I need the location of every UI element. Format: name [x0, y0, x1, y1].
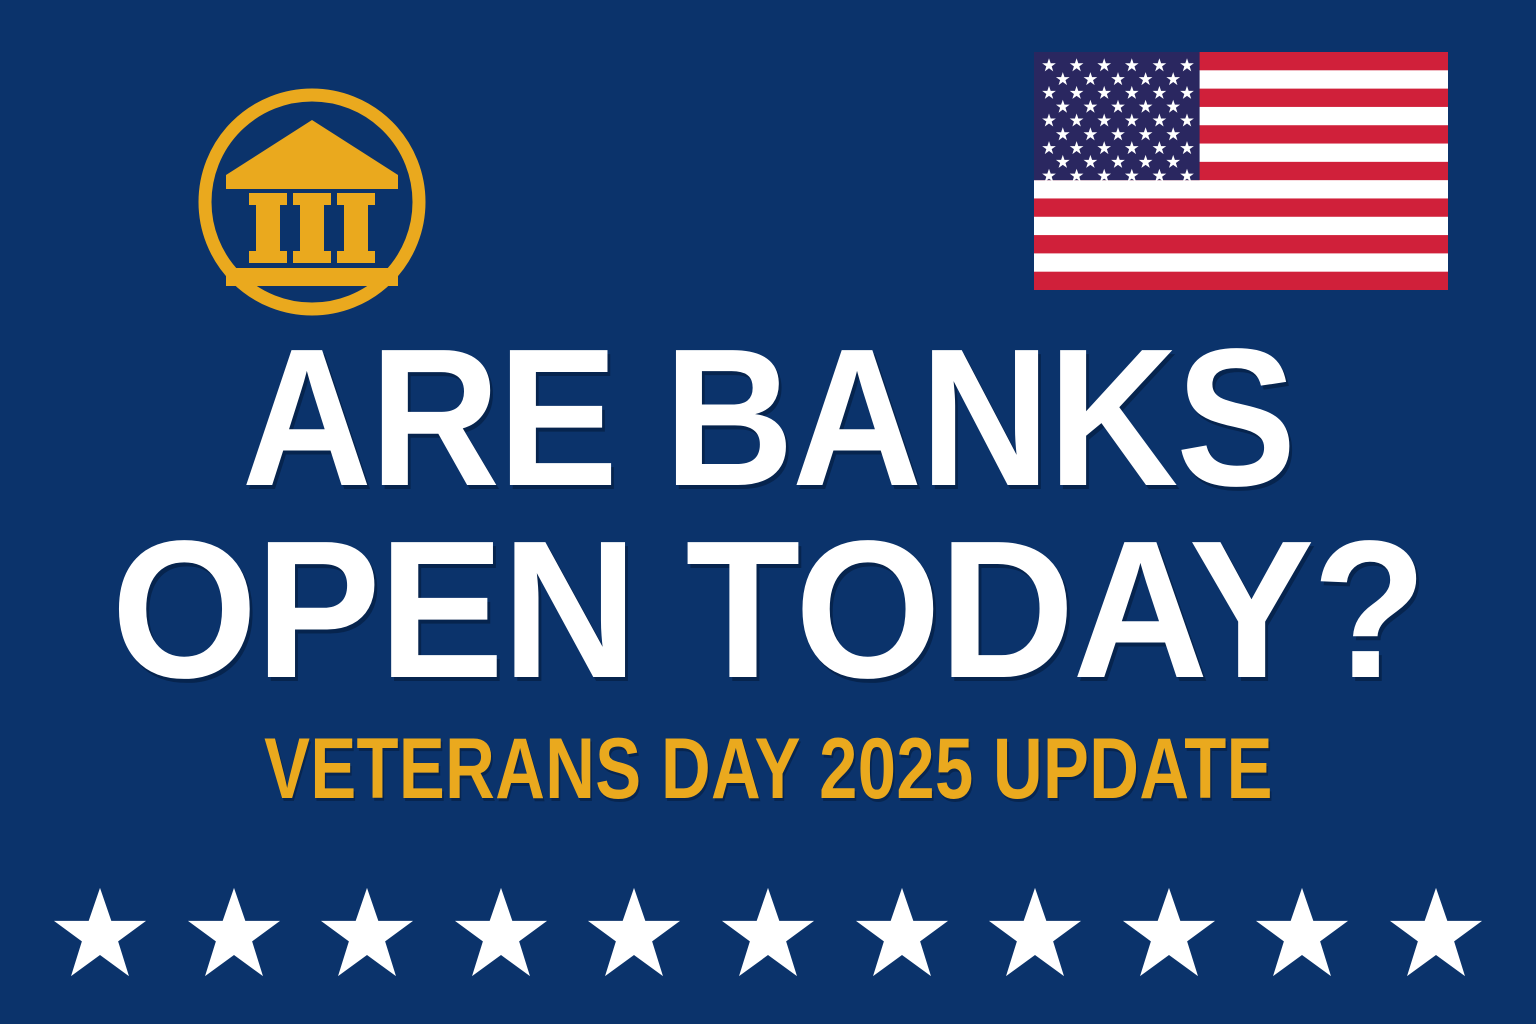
star-icon	[52, 886, 148, 980]
bank-building-circle-icon	[192, 82, 432, 322]
star-icon	[453, 886, 549, 980]
page-title: ARE BANKS OPEN TODAY?	[0, 324, 1536, 708]
star-icon	[720, 886, 816, 980]
star-icon	[186, 886, 282, 980]
headline-line-2: OPEN TODAY?	[31, 512, 1506, 708]
star-icon	[987, 886, 1083, 980]
us-flag-icon	[1034, 52, 1448, 290]
subtitle-text: VETERANS DAY 2025 UPDATE	[264, 726, 1273, 812]
star-icon	[1388, 886, 1484, 980]
star-strip	[0, 878, 1536, 988]
star-icon	[854, 886, 950, 980]
star-icon	[1121, 886, 1217, 980]
subtitle: VETERANS DAY 2025 UPDATE	[0, 726, 1536, 812]
star-icon	[586, 886, 682, 980]
star-icon	[1254, 886, 1350, 980]
poster-canvas: ARE BANKS OPEN TODAY? VETERANS DAY 2025 …	[0, 0, 1536, 1024]
headline-line-1: ARE BANKS	[61, 324, 1474, 512]
star-icon	[319, 886, 415, 980]
